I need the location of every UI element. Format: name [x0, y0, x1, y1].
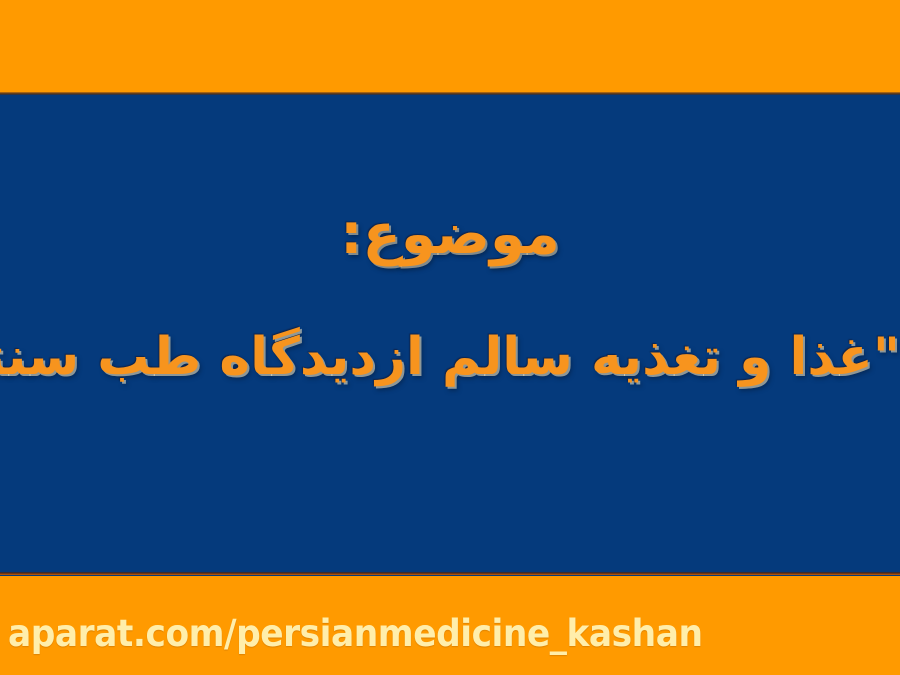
presentation-slide: موضوع: "غذا و تغذیه سالم ازدیدگاه طب سنت…	[0, 0, 900, 675]
slide-subheading: "غذا و تغذیه سالم ازدیدگاه طب سنتی "	[0, 330, 900, 385]
watermark-url: aparat.com/persianmedicine_kashan	[8, 612, 702, 655]
top-orange-band	[0, 0, 900, 93]
slide-heading: موضوع:	[0, 206, 900, 265]
bottom-divider-rule	[0, 572, 900, 575]
